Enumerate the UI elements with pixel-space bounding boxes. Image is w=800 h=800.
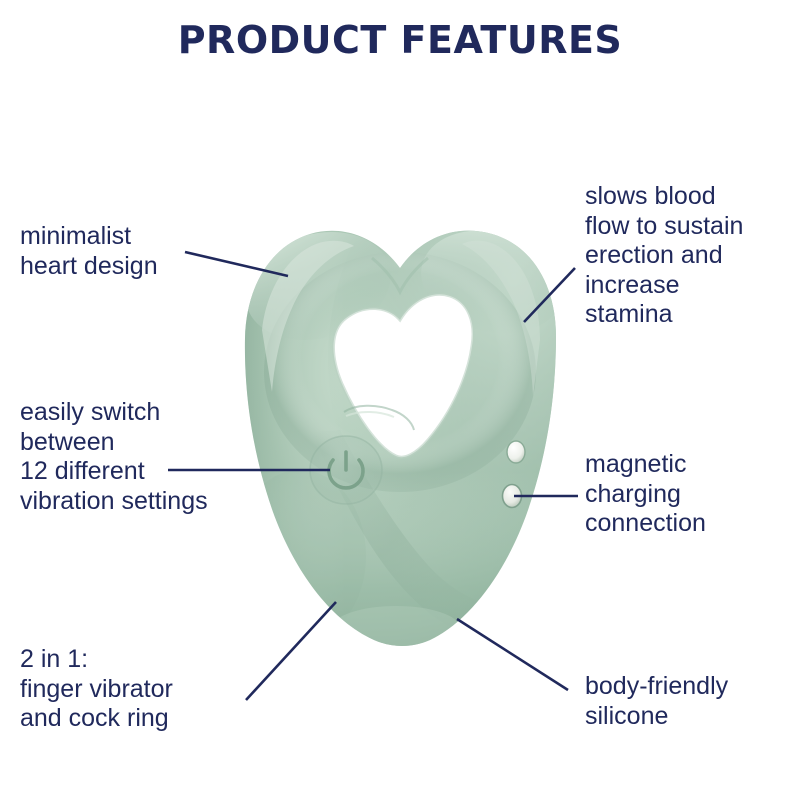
product-body [233,150,628,660]
leader-body [457,619,568,690]
callout-body-friendly-silicone: body-friendly silicone [585,672,795,731]
product-features-page: PRODUCT FEATURES [0,0,800,800]
charging-pin-upper-icon [507,441,525,463]
callout-magnetic-charging: magnetic charging connection [585,450,785,539]
callout-2-in-1: 2 in 1: finger vibrator and cock ring [20,645,260,734]
callout-vibration-settings: easily switch between 12 different vibra… [20,398,265,516]
callout-minimalist-heart-design: minimalist heart design [20,222,235,281]
callout-slows-blood-flow: slows blood flow to sustain erection and… [585,182,800,330]
